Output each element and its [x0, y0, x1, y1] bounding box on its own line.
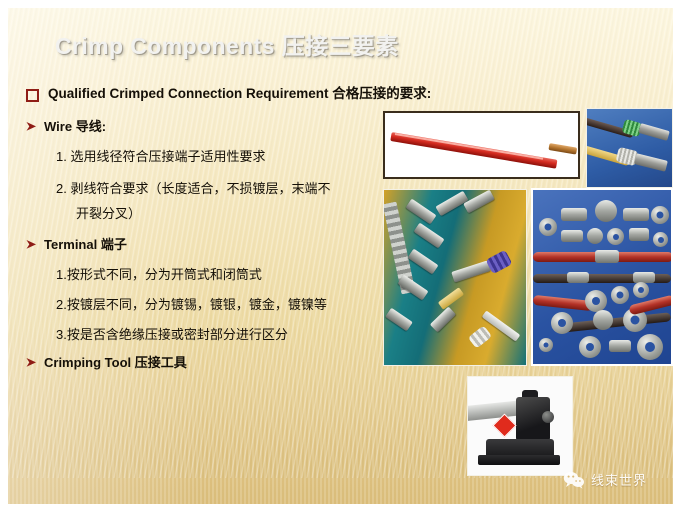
section-heading-wire: Wire 导线: — [26, 119, 386, 135]
requirement-heading: Qualified Crimped Connection Requirement… — [26, 86, 386, 103]
section-wire-cn: 导线: — [76, 119, 106, 134]
red-arrow-bullet-icon — [26, 121, 37, 132]
wire-highlight — [395, 133, 543, 160]
terminal — [407, 249, 438, 275]
section-heading-terminal-text: Terminal 端子 — [44, 237, 127, 253]
sealed-terminals-blue-photo — [586, 108, 673, 188]
butt-splice — [623, 208, 649, 221]
terminal-blade-lower — [634, 153, 668, 171]
ring-lug — [637, 334, 663, 360]
wechat-icon — [563, 471, 585, 489]
section-terminal-cn: 端子 — [101, 237, 127, 252]
terminal — [385, 308, 413, 332]
list-item: 2. 剥线符合要求（长度适合，不损镀层，末端不 开裂分叉） — [56, 180, 386, 224]
terminal — [405, 199, 436, 225]
list-item-text: 选用线径符合压接端子适用性要求 — [70, 149, 265, 164]
ferrule — [593, 310, 613, 330]
terminal-strip-teal-gold-photo — [383, 189, 527, 366]
red-arrow-bullet-icon — [26, 239, 37, 250]
list-item-number: 2. — [56, 297, 67, 312]
adjustment-knob — [542, 411, 554, 423]
terminal — [430, 307, 456, 333]
red-square-bullet-icon — [26, 89, 39, 102]
ferrule — [587, 228, 603, 244]
black-cable — [561, 312, 671, 332]
list-item: 1. 选用线径符合压接端子适用性要求 — [56, 148, 386, 167]
ring-lug — [579, 336, 601, 358]
ferrule — [561, 230, 583, 242]
content-body: Qualified Crimped Connection Requirement… — [26, 86, 386, 385]
slide-title: Crimp Components 压接三要素 — [55, 35, 399, 58]
terminal-crimped — [451, 260, 491, 282]
watermark: 线束世界 — [563, 470, 647, 489]
list-item-text: 按镀层不同，分为镀锡，镀银，镀金，镀镍等 — [67, 297, 327, 312]
list-item: 3.按是否含绝缘压接或密封部分进行区分 — [56, 326, 386, 345]
tool-mounting-foot — [478, 455, 560, 465]
list-item-text-continued: 开裂分叉） — [76, 205, 386, 224]
ring-lug — [539, 338, 553, 352]
requirement-heading-cn: 合格压接的要求: — [332, 86, 431, 101]
terminal — [413, 223, 444, 249]
red-arrow-bullet-icon — [26, 357, 37, 368]
section-tool-en: Crimping Tool — [44, 355, 131, 370]
requirement-heading-text: Qualified Crimped Connection Requirement… — [48, 86, 431, 103]
ring-lug — [607, 228, 624, 245]
list-item-number: 2. — [56, 181, 67, 196]
ring-lug — [633, 282, 649, 298]
crimping-applicator-tool-photo — [467, 376, 573, 476]
ring-lugs-blue-photo — [531, 188, 673, 366]
terminal-blade-upper — [638, 123, 670, 141]
ring-lug — [651, 206, 669, 224]
inline-splice — [567, 272, 589, 283]
list-item-number: 1. — [56, 267, 67, 282]
ring-lug — [595, 200, 617, 222]
list-item-number: 1. — [56, 149, 67, 164]
section-heading-crimping-tool: Crimping Tool 压接工具 — [26, 355, 386, 371]
slide: Crimp Components 压接三要素 Qualified Crimped… — [0, 0, 681, 512]
ring-lug — [611, 286, 629, 304]
red-wire-stripped-photo — [383, 111, 580, 179]
section-terminal-en: Terminal — [44, 237, 97, 252]
list-item-text: 按是否含绝缘压接或密封部分进行区分 — [67, 327, 288, 342]
ferrule — [609, 340, 631, 352]
inline-splice — [633, 272, 655, 283]
yellow-insulated-lead — [438, 287, 464, 310]
requirement-heading-en: Qualified Crimped Connection Requirement — [48, 86, 329, 101]
list-item-text: 按形式不同，分为开筒式和闭筒式 — [67, 267, 262, 282]
ferrule — [629, 228, 649, 241]
slide-frame: Crimp Components 压接三要素 Qualified Crimped… — [8, 8, 673, 504]
slide-title-en: Crimp Components — [55, 33, 275, 59]
ring-lug — [539, 218, 557, 236]
white-seal — [468, 325, 492, 348]
ring-lug — [585, 290, 607, 312]
ring-lug — [653, 232, 668, 247]
section-heading-crimping-tool-text: Crimping Tool 压接工具 — [44, 355, 187, 371]
slide-title-cn: 压接三要素 — [282, 33, 399, 59]
section-heading-wire-text: Wire 导线: — [44, 119, 106, 135]
list-item: 1.按形式不同，分为开筒式和闭筒式 — [56, 266, 386, 285]
section-heading-terminal: Terminal 端子 — [26, 237, 386, 253]
list-item: 2.按镀层不同，分为镀锡，镀银，镀金，镀镍等 — [56, 296, 386, 315]
inline-splice — [595, 250, 619, 263]
section-wire-en: Wire — [44, 119, 72, 134]
terminal — [463, 190, 495, 214]
section-tool-cn: 压接工具 — [135, 355, 187, 370]
list-item-text: 剥线符合要求（长度适合，不损镀层，末端不 — [70, 181, 330, 196]
butt-splice — [561, 208, 587, 221]
exposed-copper-conductor — [548, 143, 577, 155]
list-item-number: 3. — [56, 327, 67, 342]
watermark-text: 线束世界 — [591, 470, 647, 489]
ring-lug — [551, 312, 573, 334]
